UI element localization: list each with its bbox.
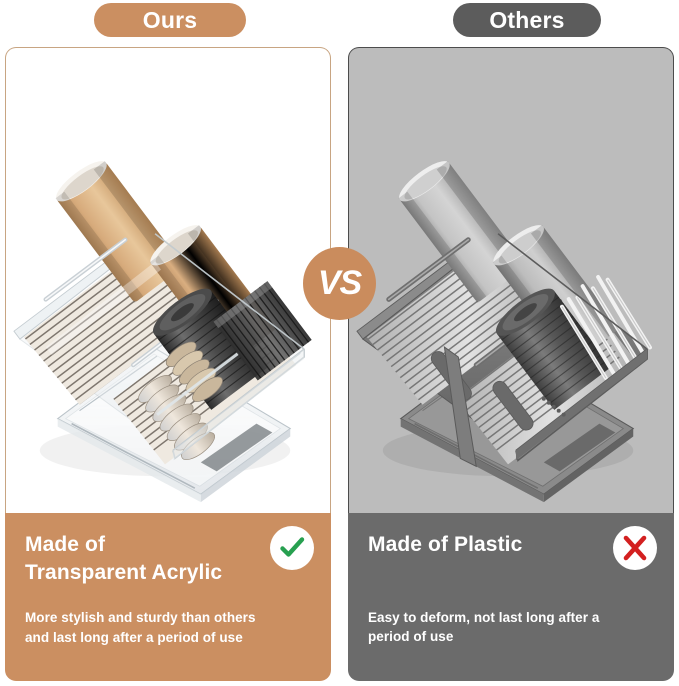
- vs-label: VS: [318, 266, 361, 300]
- badge-ours-label: Ours: [143, 7, 197, 34]
- info-panel-others: Made of Plastic Easy to deform, not last…: [348, 513, 674, 681]
- cross-icon: [613, 526, 657, 570]
- badge-ours: Ours: [94, 3, 246, 37]
- info-title-ours: Made of Transparent Acrylic: [25, 531, 255, 586]
- info-title-others: Made of Plastic: [368, 531, 598, 559]
- info-description-ours: More stylish and sturdy than others and …: [25, 608, 280, 647]
- info-title-others-line1: Made of Plastic: [368, 533, 522, 556]
- check-icon: [270, 526, 314, 570]
- info-title-ours-line2: Transparent Acrylic: [25, 561, 222, 584]
- badge-others-label: Others: [489, 7, 564, 34]
- badge-others: Others: [453, 3, 601, 37]
- comparison-infographic: Ours Others: [0, 0, 679, 686]
- product-image-acrylic: [6, 48, 330, 513]
- product-card-ours: [5, 47, 331, 513]
- product-card-others: [348, 47, 674, 513]
- info-panel-ours: Made of Transparent Acrylic More stylish…: [5, 513, 331, 681]
- info-title-ours-line1: Made of: [25, 533, 105, 556]
- product-image-plastic: [349, 48, 673, 513]
- info-description-others: Easy to deform, not last long after a pe…: [368, 608, 640, 647]
- vs-badge: VS: [303, 247, 376, 320]
